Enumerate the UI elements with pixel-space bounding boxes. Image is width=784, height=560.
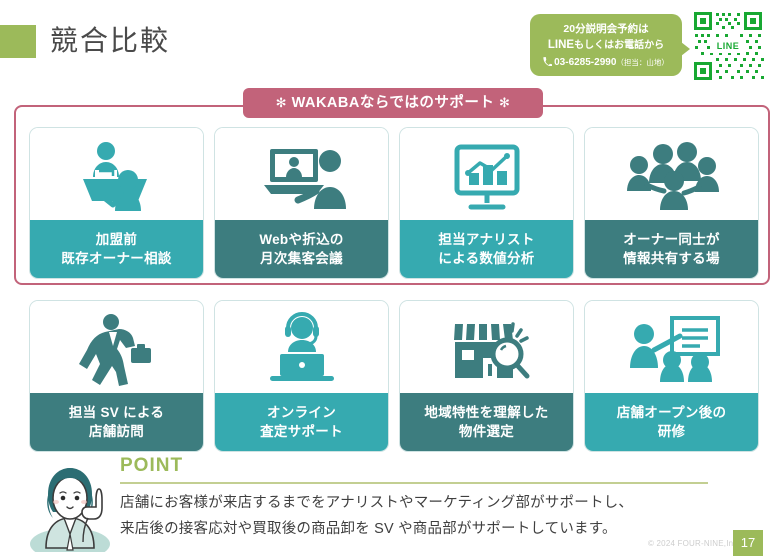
page-title: 競合比較 (50, 22, 170, 60)
contact-phone-row: 03-6285-2990（担当：山地） (530, 55, 682, 71)
card-8-line-1: 店舗オープン後の (617, 403, 727, 422)
card-3-label: 担当アナリスト による数値分析 (400, 220, 573, 278)
headset-laptop-icon (215, 301, 388, 393)
contact-phone-note: （担当：山地） (616, 58, 669, 67)
card-2-line-1: Webや折込の (259, 230, 343, 249)
online-meeting-icon (215, 128, 388, 220)
card-5-line-1: 担当 SV による (69, 403, 164, 422)
star-icon-left: ✻ (276, 95, 287, 110)
card-8-label: 店舗オープン後の 研修 (585, 393, 758, 451)
star-icon-right: ✻ (499, 95, 510, 110)
card-7-line-1: 地域特性を理解した (424, 403, 548, 422)
point-woman-illustration (26, 456, 114, 552)
wakaba-banner: ✻ WAKABAならではのサポート ✻ (243, 88, 543, 118)
card-3[interactable]: 担当アナリスト による数値分析 (399, 127, 574, 279)
card-1-line-2: 既存オーナー相談 (61, 249, 171, 268)
phone-icon (543, 56, 552, 71)
card-5-line-2: 店舗訪問 (89, 422, 144, 441)
card-6-label: オンライン 査定サポート (215, 393, 388, 451)
contact-phone: 03-6285-2990 (554, 57, 616, 68)
card-4-line-1: オーナー同士が (623, 230, 720, 249)
contact-line-1: 20分説明会予約は (530, 22, 682, 37)
group-meeting-icon (585, 128, 758, 220)
card-3-line-1: 担当アナリスト (438, 230, 534, 249)
card-6[interactable]: オンライン 査定サポート (214, 300, 389, 452)
card-7[interactable]: 地域特性を理解した 物件選定 (399, 300, 574, 452)
slide-root: 競合比較 20分説明会予約は LINEもしくはお電話から 03-6285-299… (0, 0, 784, 560)
point-text-line-2: 来店後の接客応対や買取後の商品卸を SV や商品部がサポートしています。 (120, 518, 617, 540)
point-divider (120, 482, 708, 484)
contact-line-2-rest: もしくはお電話から (574, 40, 664, 51)
wakaba-banner-label: WAKABAならではのサポート (292, 95, 495, 111)
training-whiteboard-icon (585, 301, 758, 393)
card-4-label: オーナー同士が 情報共有する場 (585, 220, 758, 278)
header-accent-square (0, 25, 36, 58)
card-1-label: 加盟前 既存オーナー相談 (30, 220, 203, 278)
card-2[interactable]: Webや折込の 月次集客会議 (214, 127, 389, 279)
card-8[interactable]: 店舗オープン後の 研修 (584, 300, 759, 452)
point-text-line-1: 店舗にお客様が来店するまでをアナリストやマーケティング部がサポートし、 (120, 492, 633, 514)
consultation-icon (30, 128, 203, 220)
card-3-line-2: による数値分析 (438, 249, 534, 268)
qr-line-label: LINE (710, 40, 746, 53)
line-qr-code[interactable]: LINE (692, 10, 764, 82)
card-5[interactable]: 担当 SV による 店舗訪問 (29, 300, 204, 452)
analytics-monitor-icon (400, 128, 573, 220)
card-7-label: 地域特性を理解した 物件選定 (400, 393, 573, 451)
card-5-label: 担当 SV による 店舗訪問 (30, 393, 203, 451)
contact-line-2: LINEもしくはお電話から (530, 37, 682, 54)
card-1-line-1: 加盟前 (96, 230, 137, 249)
card-7-line-2: 物件選定 (459, 422, 514, 441)
card-1[interactable]: 加盟前 既存オーナー相談 (29, 127, 204, 279)
contact-line-2-line: LINE (548, 39, 574, 51)
contact-bubble: 20分説明会予約は LINEもしくはお電話から 03-6285-2990（担当：… (530, 14, 682, 76)
businessman-walking-icon (30, 301, 203, 393)
card-4-line-2: 情報共有する場 (623, 249, 720, 268)
card-6-line-2: 査定サポート (260, 422, 343, 441)
page-number-badge: 17 (733, 530, 763, 556)
point-title: POINT (120, 455, 183, 477)
card-4[interactable]: オーナー同士が 情報共有する場 (584, 127, 759, 279)
store-magnifier-icon (400, 301, 573, 393)
card-2-label: Webや折込の 月次集客会議 (215, 220, 388, 278)
copyright-text: © 2024 FOUR-NINE,Inc (648, 539, 737, 548)
card-2-line-2: 月次集客会議 (260, 249, 343, 268)
card-8-line-2: 研修 (658, 422, 686, 441)
card-6-line-1: オンライン (267, 403, 336, 422)
